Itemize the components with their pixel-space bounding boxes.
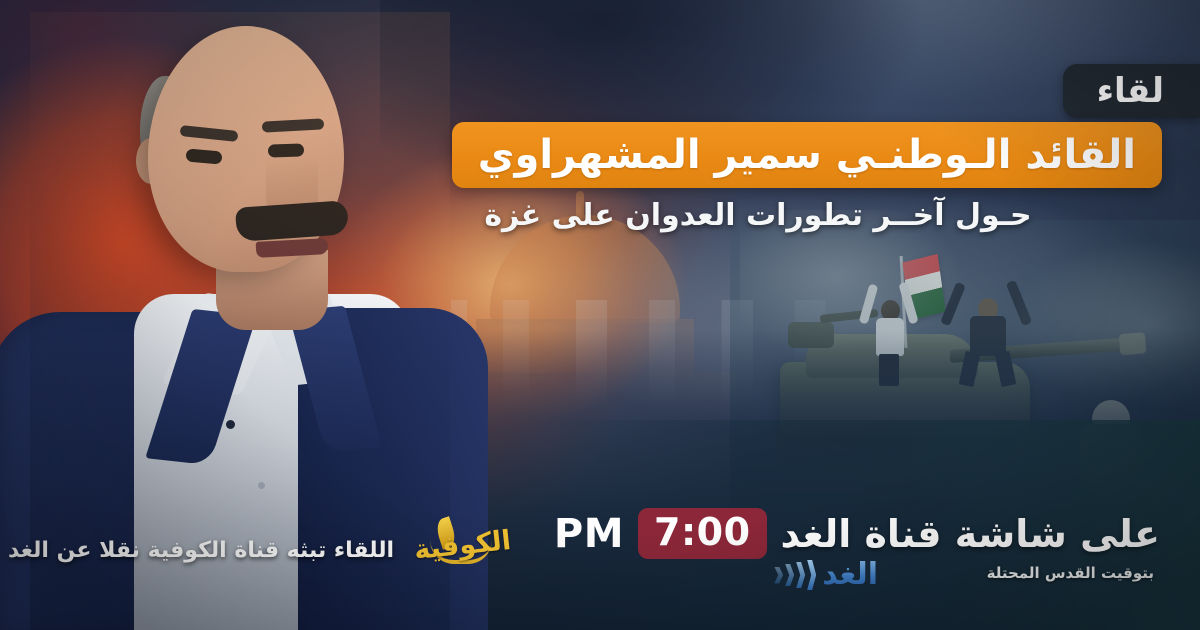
kufiya-swoop-icon — [430, 540, 492, 564]
bottom-bar: على شاشة قناة الغد 7:00 PM بتوقيت القدس … — [0, 498, 1200, 630]
alkufiya-logo-word: الكوفية — [413, 526, 512, 563]
airtime-value: 7:00 — [654, 513, 751, 551]
channel-line-label: على شاشة قناة الغد — [781, 515, 1160, 553]
arm-right — [1006, 280, 1033, 326]
timezone-note: بتوقيت القدس المحتلة — [987, 564, 1154, 582]
rebroadcast-note: اللقاء تبثه قناة الكوفية نقلا عن الغد — [64, 538, 394, 564]
arm-left — [859, 284, 879, 325]
guest-name-label: القائد الـوطنـي سمير المشهراوي — [478, 135, 1136, 175]
airtime-period-label: PM — [554, 514, 624, 554]
lapel-microphone-icon — [226, 420, 235, 429]
guest-name-banner: القائد الـوطنـي سمير المشهراوي — [452, 122, 1162, 188]
airtime-row: على شاشة قناة الغد 7:00 PM — [554, 508, 1160, 559]
interview-badge-label: لقاء — [1097, 74, 1164, 108]
episode-subtitle: حـول آخــر تطورات العدوان على غزة — [378, 198, 1138, 234]
alghad-logo-word: الغد — [822, 560, 878, 590]
moustache — [235, 200, 349, 242]
alghad-chevrons-icon — [774, 560, 816, 590]
airtime-pill: 7:00 — [638, 508, 767, 559]
promo-card: لقاء القائد الـوطنـي سمير المشهراوي حـول… — [0, 0, 1200, 630]
shirt-button — [258, 482, 265, 489]
alkufiya-channel-logo: الكوفية — [424, 510, 502, 580]
kufiya-leaf-icon — [434, 516, 458, 549]
interview-badge: لقاء — [1063, 64, 1200, 118]
alghad-channel-logo: الغد — [774, 560, 878, 590]
